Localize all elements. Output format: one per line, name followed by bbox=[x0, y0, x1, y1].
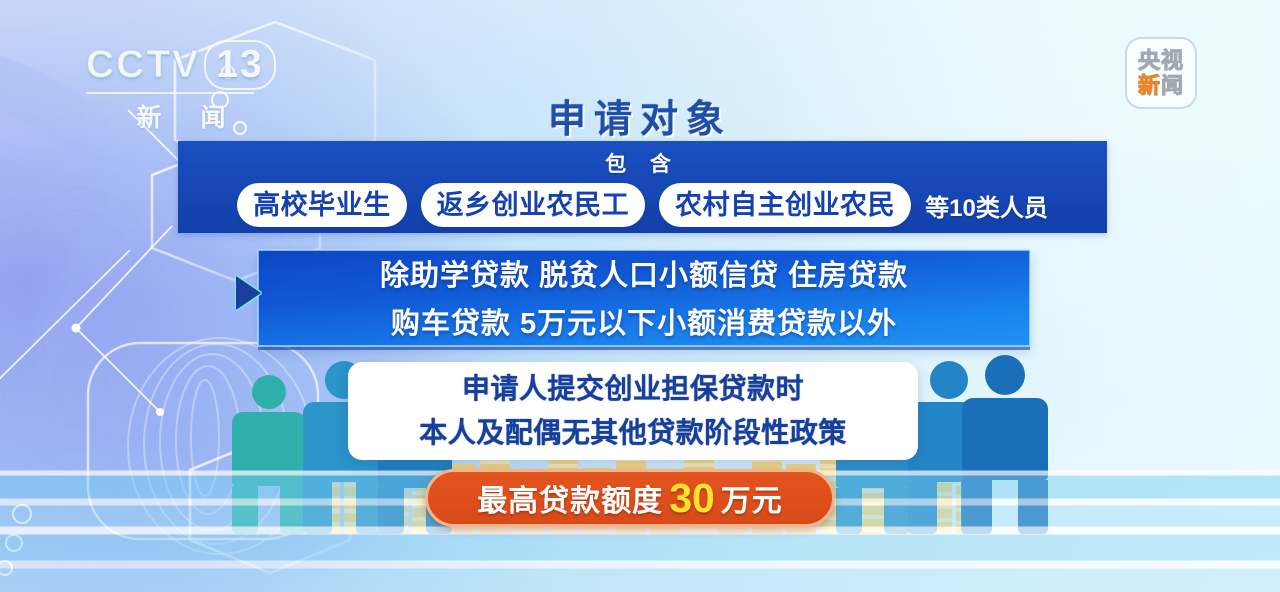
eligible-groups-list: 高校毕业生 返乡创业农民工 农村自主创业农民 等10类人员 bbox=[178, 183, 1107, 227]
loan-limit-unit: 万元 bbox=[721, 476, 783, 520]
include-panel: 包 含 高校毕业生 返乡创业农民工 农村自主创业农民 等10类人员 bbox=[178, 141, 1107, 233]
policy-line-1: 申请人提交创业担保贷款时 bbox=[462, 367, 804, 411]
play-triangle-icon bbox=[236, 276, 261, 310]
page-title: 申请对象 bbox=[0, 88, 1280, 143]
eligible-groups-tail: 等10类人员 bbox=[925, 188, 1048, 223]
exclude-panel-wrap: 除助学贷款 脱贫人口小额信贷 住房贷款 购车贷款 5万元以下小额消费贷款以外 bbox=[236, 250, 1030, 346]
loan-limit-badge: 最高贷款额度 30 万元 bbox=[425, 469, 835, 527]
policy-line-2: 本人及配偶无其他贷款阶段性政策 bbox=[419, 411, 847, 455]
cctv-letters: CCTV bbox=[86, 43, 200, 86]
exclude-line-2: 购车贷款 5万元以下小额消费贷款以外 bbox=[258, 298, 1030, 346]
exclude-panel: 除助学贷款 脱贫人口小额信贷 住房贷款 购车贷款 5万元以下小额消费贷款以外 bbox=[258, 250, 1030, 346]
include-label: 包 含 bbox=[178, 141, 1107, 178]
watermark-yangshi: 央视 bbox=[1138, 48, 1184, 73]
eligible-group-pill: 农村自主创业农民 bbox=[659, 183, 911, 227]
loan-limit-amount: 30 bbox=[669, 475, 715, 522]
channel-number: 13 bbox=[204, 40, 275, 90]
eligible-group-pill: 高校毕业生 bbox=[237, 183, 407, 227]
loan-limit-prefix: 最高贷款额度 bbox=[477, 476, 663, 520]
eligible-group-pill: 返乡创业农民工 bbox=[421, 183, 646, 227]
broadcast-graphic-stage: CCTV13 新 闻 央视 新 闻 申请对象 包 含 高校毕业生 返乡创业农民工… bbox=[0, 0, 1280, 592]
exclude-line-1: 除助学贷款 脱贫人口小额信贷 住房贷款 bbox=[258, 250, 1030, 298]
cctv-wordmark: CCTV13 bbox=[86, 40, 276, 90]
policy-card: 申请人提交创业担保贷款时 本人及配偶无其他贷款阶段性政策 bbox=[348, 362, 918, 460]
watermark-line-1: 央视 bbox=[1138, 48, 1184, 73]
